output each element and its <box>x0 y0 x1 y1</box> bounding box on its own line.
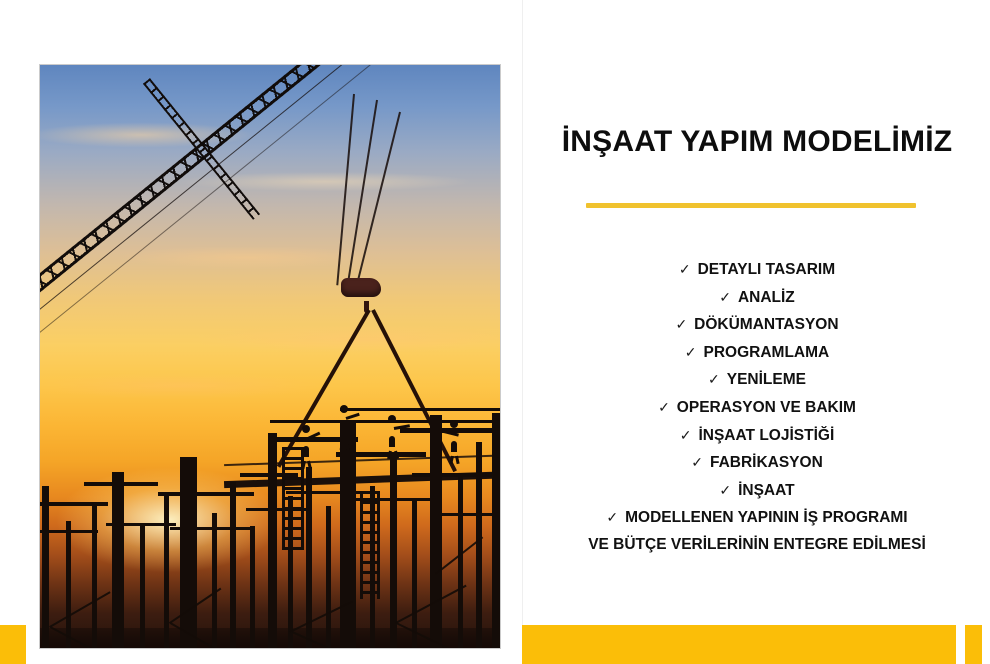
check-icon: ✓ <box>658 399 670 415</box>
list-item-label: OPERASYON VE BAKIM <box>677 399 856 416</box>
list-item-label: MODELLENEN YAPININ İŞ PROGRAMI <box>625 509 907 526</box>
list-item-label: PROGRAMLAMA <box>704 344 830 361</box>
list-item: ✓OPERASYON VE BAKIM <box>523 394 990 422</box>
accent-bar-center <box>522 625 956 664</box>
bullet-list: ✓DETAYLI TASARIM ✓ANALİZ ✓DÖKÜMANTASYON … <box>523 256 990 559</box>
check-icon: ✓ <box>691 454 703 470</box>
crane-hook-block-icon <box>341 278 381 297</box>
list-item-label: İNŞAAT <box>738 482 795 499</box>
check-icon: ✓ <box>680 427 692 443</box>
list-item: ✓YENİLEME <box>523 366 990 394</box>
list-item: ✓DETAYLI TASARIM <box>523 256 990 284</box>
crane-boom-icon <box>40 65 500 341</box>
crane-cable-secondary-icon <box>40 65 500 362</box>
list-item: ✓ANALİZ <box>523 284 990 312</box>
list-item: ✓DÖKÜMANTASYON <box>523 311 990 339</box>
check-icon: ✓ <box>719 482 731 498</box>
scaffolding-silhouette <box>40 403 500 648</box>
check-icon: ✓ <box>685 344 697 360</box>
check-icon: ✓ <box>708 371 720 387</box>
check-icon: ✓ <box>675 316 687 332</box>
list-item-label: FABRİKASYON <box>710 454 823 471</box>
list-item-label: İNŞAAT LOJİSTİĞİ <box>698 427 834 444</box>
construction-photo <box>40 65 500 648</box>
check-icon: ✓ <box>679 261 691 277</box>
page-title: İNŞAAT YAPIM MODELİMİZ <box>523 125 990 159</box>
list-item-continuation: VE BÜTÇE VERİLERİNİN ENTEGRE EDİLMESİ <box>523 532 990 559</box>
list-item: ✓İNŞAAT <box>523 477 990 505</box>
list-item-label: YENİLEME <box>727 371 806 388</box>
title-divider <box>586 203 916 208</box>
slide: İNŞAAT YAPIM MODELİMİZ ✓DETAYLI TASARIM … <box>0 0 990 664</box>
list-item-label: DÖKÜMANTASYON <box>694 316 838 333</box>
list-item: ✓MODELLENEN YAPININ İŞ PROGRAMI <box>523 504 990 532</box>
accent-bar-right <box>965 625 982 664</box>
photo-sky <box>40 65 500 648</box>
list-item: ✓İNŞAAT LOJİSTİĞİ <box>523 422 990 450</box>
list-item: ✓FABRİKASYON <box>523 449 990 477</box>
check-icon: ✓ <box>606 509 618 525</box>
crane-cable-icon <box>40 65 500 348</box>
accent-bar-left <box>0 625 26 664</box>
list-item-label: DETAYLI TASARIM <box>698 261 836 278</box>
list-item: ✓PROGRAMLAMA <box>523 339 990 367</box>
content-panel: İNŞAAT YAPIM MODELİMİZ ✓DETAYLI TASARIM … <box>522 0 990 664</box>
check-icon: ✓ <box>719 289 731 305</box>
list-item-label: ANALİZ <box>738 289 795 306</box>
list-item-label: VE BÜTÇE VERİLERİNİN ENTEGRE EDİLMESİ <box>588 536 926 553</box>
